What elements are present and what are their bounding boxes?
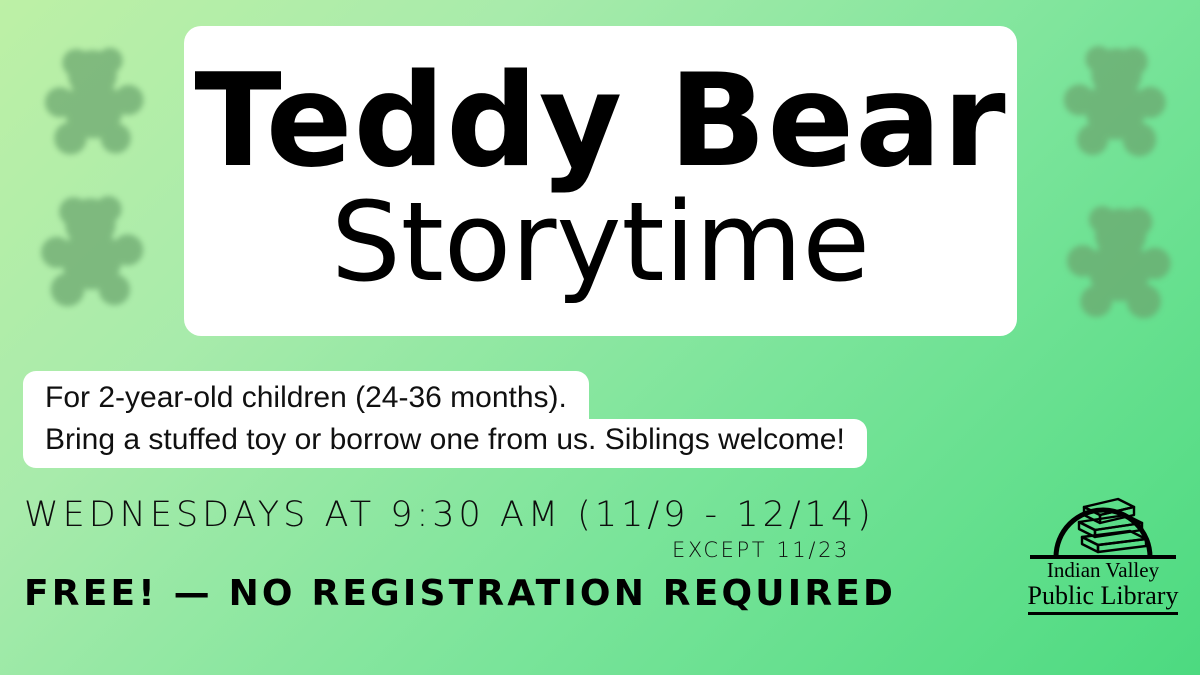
- teddy-bear-decoration-top-left: [38, 42, 154, 158]
- schedule-exception-text: EXCEPT 11/23: [24, 538, 892, 562]
- free-registration-notice: FREE! — NO REGISTRATION REQUIRED: [24, 573, 896, 614]
- teddy-bear-storytime-poster: Teddy Bear Storytime For 2-year-old chil…: [0, 0, 1200, 675]
- logo-underline: [1028, 612, 1178, 615]
- teddy-bear-decoration-bottom-left: [34, 190, 154, 310]
- description-line-2: Bring a stuffed toy or borrow one from u…: [23, 419, 867, 468]
- description-block: For 2-year-old children (24-36 months). …: [23, 371, 867, 468]
- description-line-1: For 2-year-old children (24-36 months).: [23, 371, 589, 419]
- schedule-block: WEDNESDAYS AT 9:30 AM (11/9 - 12/14) EXC…: [24, 497, 892, 562]
- library-name-line-1: Indian Valley: [1022, 560, 1184, 582]
- title-card: Teddy Bear Storytime: [184, 26, 1017, 336]
- teddy-bear-decoration-top-right: [1053, 40, 1173, 160]
- page-title-line-2: Storytime: [331, 187, 870, 297]
- teddy-bear-decoration-bottom-right: [1056, 200, 1178, 322]
- library-logo: Indian Valley Public Library: [1022, 481, 1184, 616]
- book-stack-arch-icon: [1022, 481, 1184, 559]
- page-title-line-1: Teddy Bear: [194, 59, 1006, 184]
- library-name-line-2: Public Library: [1022, 582, 1184, 609]
- schedule-main-text: WEDNESDAYS AT 9:30 AM (11/9 - 12/14): [24, 497, 892, 534]
